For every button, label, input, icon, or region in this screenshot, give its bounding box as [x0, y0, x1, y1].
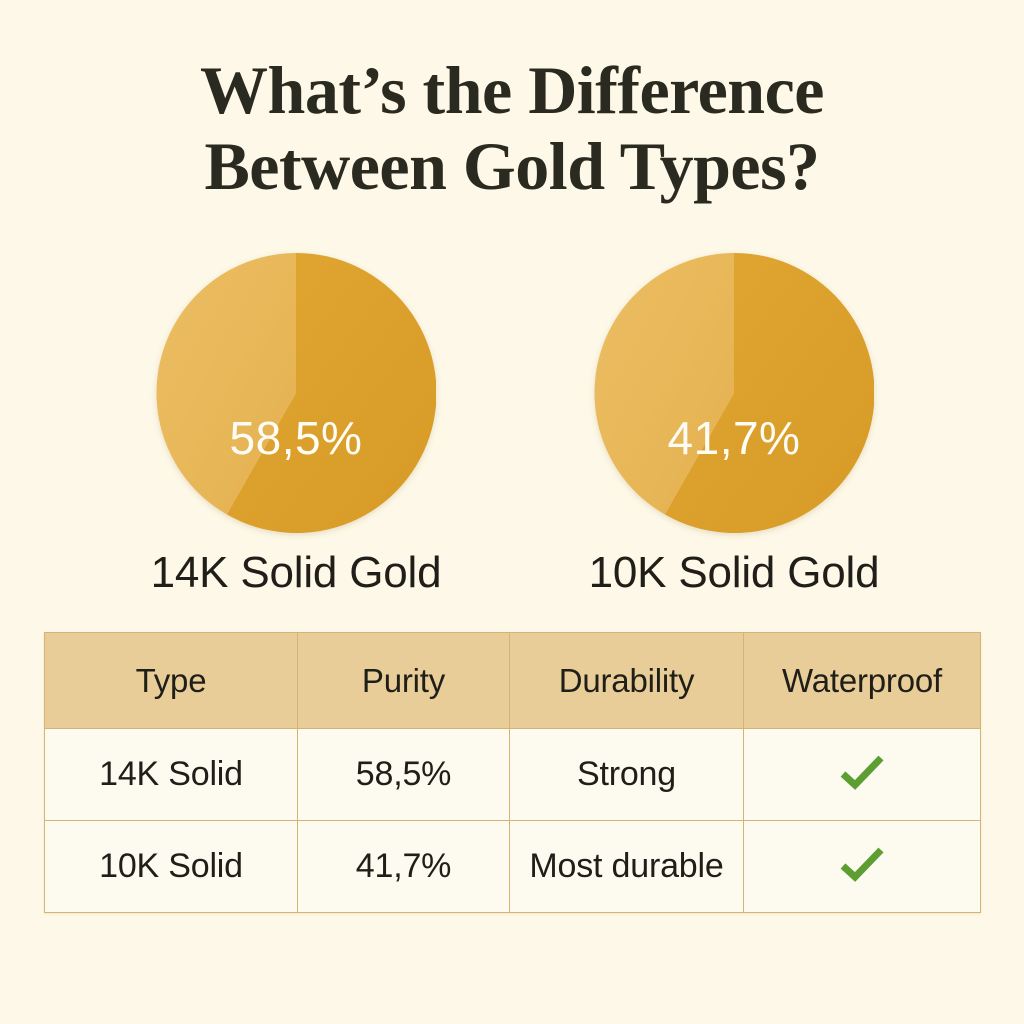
infographic-canvas: What’s the Difference Between Gold Types…	[0, 0, 1024, 1024]
pie-caption-14k: 14K Solid Gold	[86, 548, 506, 598]
page-title-line-1: What’s the Difference	[0, 52, 1024, 128]
cell-type-14k: 14K Solid	[45, 729, 298, 821]
cell-durability-10k: Most durable	[510, 821, 744, 913]
cell-purity-10k: 41,7%	[298, 821, 510, 913]
pie-caption-10k: 10K Solid Gold	[524, 548, 944, 598]
page-title: What’s the Difference Between Gold Types…	[0, 52, 1024, 204]
table-body: 14K Solid 58,5% Strong 10K Solid 41,7% M…	[45, 729, 981, 913]
pie-chart-14k-svg	[156, 253, 436, 533]
cell-waterproof-14k	[744, 729, 981, 821]
table-header-row: Type Purity Durability Waterproof	[45, 633, 981, 729]
page-title-line-2: Between Gold Types?	[0, 128, 1024, 204]
pie-chart-10k: 41,7%	[594, 253, 874, 533]
pie-chart-row: 58,5% 41,7%	[0, 253, 1024, 543]
cell-waterproof-10k	[744, 821, 981, 913]
table-row: 14K Solid 58,5% Strong	[45, 729, 981, 821]
column-header-waterproof: Waterproof	[744, 633, 981, 729]
column-header-type: Type	[45, 633, 298, 729]
table-row: 10K Solid 41,7% Most durable	[45, 821, 981, 913]
gold-comparison-table: Type Purity Durability Waterproof 14K So…	[44, 632, 981, 913]
pie-chart-14k: 58,5%	[156, 253, 436, 533]
cell-type-10k: 10K Solid	[45, 821, 298, 913]
cell-purity-14k: 58,5%	[298, 729, 510, 821]
pie-caption-row: 14K Solid Gold 10K Solid Gold	[0, 548, 1024, 610]
column-header-durability: Durability	[510, 633, 744, 729]
pie-chart-10k-svg	[594, 253, 874, 533]
column-header-purity: Purity	[298, 633, 510, 729]
table-header: Type Purity Durability Waterproof	[45, 633, 981, 729]
check-icon	[839, 846, 885, 888]
cell-durability-14k: Strong	[510, 729, 744, 821]
check-icon	[839, 754, 885, 796]
